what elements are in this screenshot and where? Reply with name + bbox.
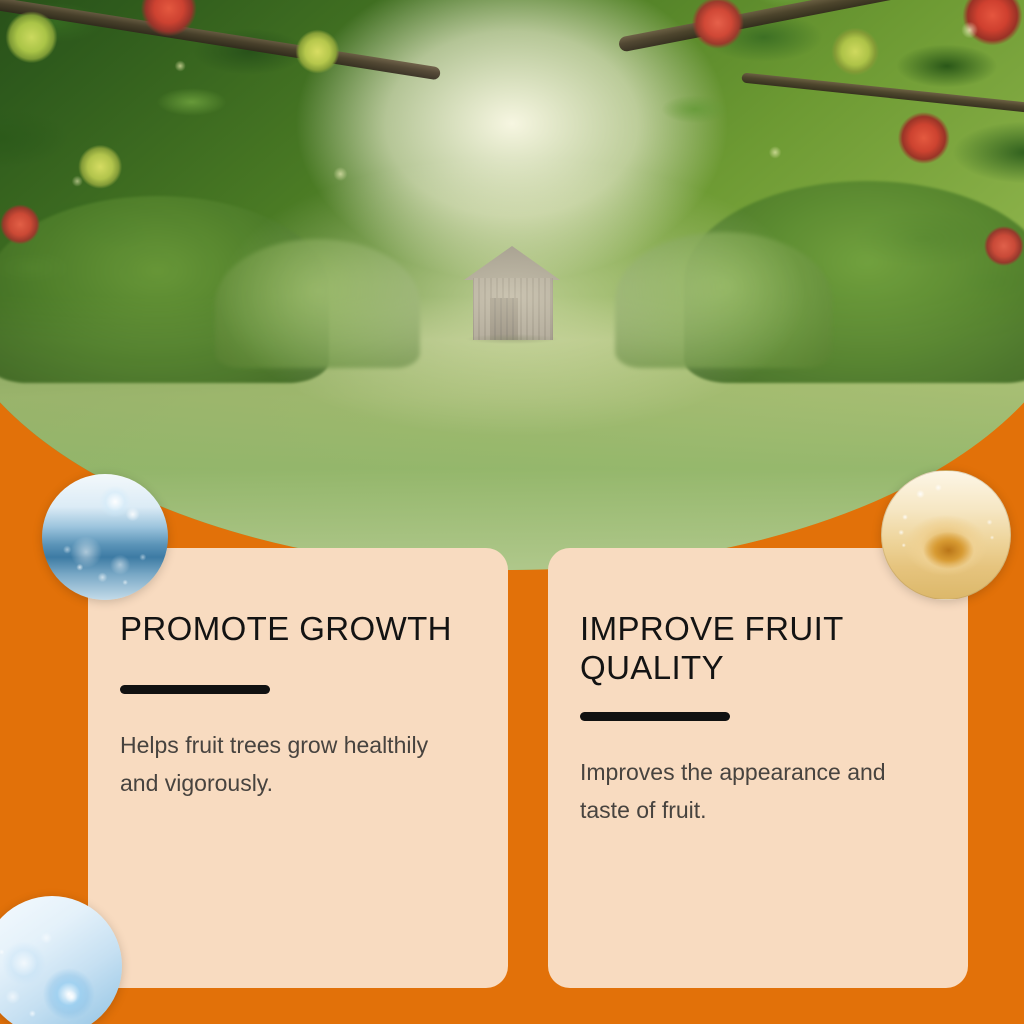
card-body-text: Helps fruit trees grow healthily and vig… [120,726,450,802]
poster-root: PROMOTE GROWTH Helps fruit trees grow he… [0,0,1024,1024]
title-divider [580,712,730,721]
golden-liquid-icon [881,470,1011,600]
feature-card-promote-growth: PROMOTE GROWTH Helps fruit trees grow he… [88,548,508,988]
card-title: PROMOTE GROWTH [120,610,474,649]
card-title: IMPROVE FRUIT QUALITY [580,610,934,688]
water-bubbles-icon [0,896,122,1024]
feature-card-improve-fruit-quality: IMPROVE FRUIT QUALITY Improves the appea… [548,548,968,988]
title-divider [120,685,270,694]
water-splash-icon [42,474,168,600]
card-body-text: Improves the appearance and taste of fru… [580,753,910,829]
